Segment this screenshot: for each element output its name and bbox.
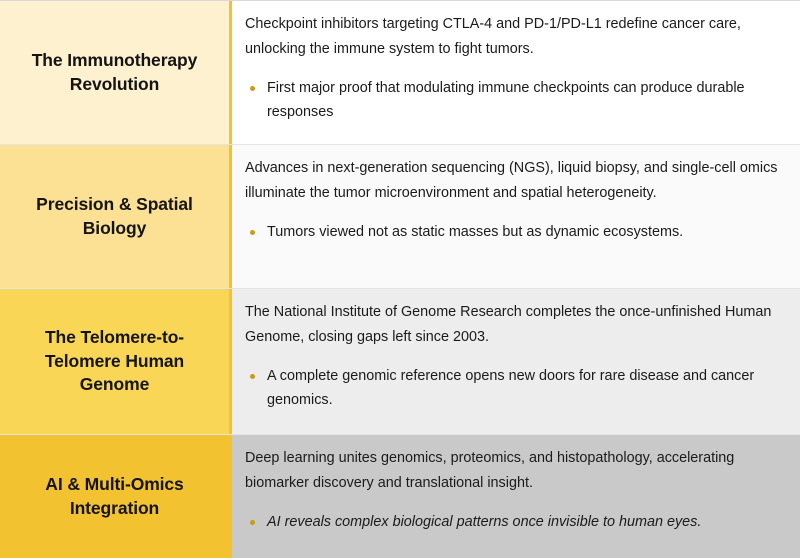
- row-body-cell: Checkpoint inhibitors targeting CTLA-4 a…: [232, 1, 800, 144]
- row-bullet-list: First major proof that modulating immune…: [245, 76, 784, 128]
- row-title-cell: AI & Multi-Omics Integration: [0, 435, 232, 558]
- row-title-cell: The Telomere-to-Telomere Human Genome: [0, 289, 232, 434]
- row-title: AI & Multi-Omics Integration: [14, 473, 215, 520]
- row-summary: Checkpoint inhibitors targeting CTLA-4 a…: [245, 12, 784, 62]
- row-body-cell: Deep learning unites genomics, proteomic…: [232, 435, 800, 558]
- table-row: The Immunotherapy Revolution Checkpoint …: [0, 1, 800, 145]
- row-summary: Deep learning unites genomics, proteomic…: [245, 446, 784, 496]
- list-item: A complete genomic reference opens new d…: [245, 364, 784, 414]
- table-row: AI & Multi-Omics Integration Deep learni…: [0, 435, 800, 558]
- row-bullet-list: A complete genomic reference opens new d…: [245, 364, 784, 416]
- list-item: AI reveals complex biological patterns o…: [245, 510, 784, 535]
- row-title: The Immunotherapy Revolution: [14, 49, 215, 96]
- row-title: The Telomere-to-Telomere Human Genome: [14, 326, 215, 397]
- table-row: Precision & Spatial Biology Advances in …: [0, 145, 800, 289]
- row-summary: Advances in next-generation sequencing (…: [245, 156, 784, 206]
- row-body-cell: Advances in next-generation sequencing (…: [232, 145, 800, 288]
- row-bullet-list: Tumors viewed not as static masses but a…: [245, 220, 784, 247]
- row-bullet-list: AI reveals complex biological patterns o…: [245, 510, 784, 537]
- list-item: First major proof that modulating immune…: [245, 76, 784, 126]
- row-title-cell: Precision & Spatial Biology: [0, 145, 232, 288]
- row-title-cell: The Immunotherapy Revolution: [0, 1, 232, 144]
- row-title: Precision & Spatial Biology: [14, 193, 215, 240]
- milestones-table: The Immunotherapy Revolution Checkpoint …: [0, 0, 800, 558]
- list-item: Tumors viewed not as static masses but a…: [245, 220, 784, 245]
- row-summary: The National Institute of Genome Researc…: [245, 300, 784, 350]
- row-body-cell: The National Institute of Genome Researc…: [232, 289, 800, 434]
- table-row: The Telomere-to-Telomere Human Genome Th…: [0, 289, 800, 435]
